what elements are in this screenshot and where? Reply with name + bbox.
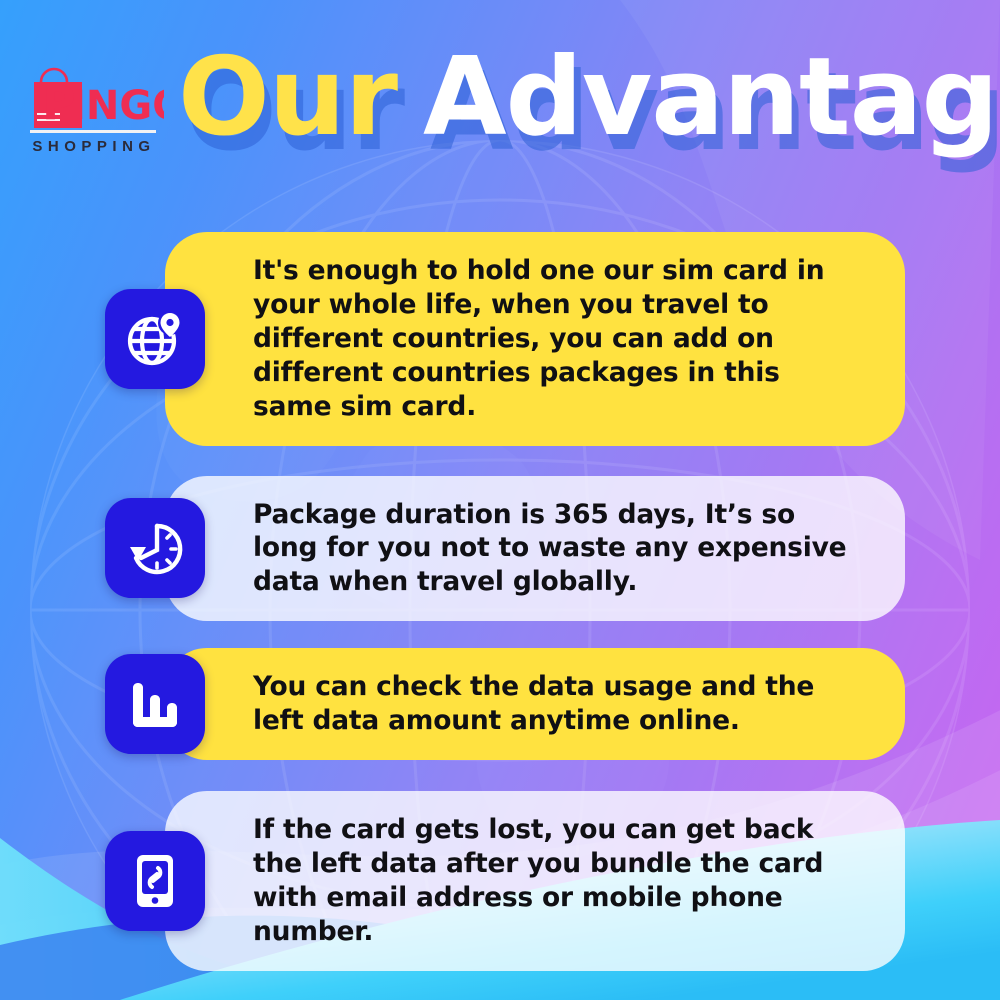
advantages-list: It's enough to hold one our sim card in …	[0, 232, 1000, 971]
clock-history-icon	[105, 498, 205, 598]
shopping-bag-icon: P INGO	[14, 62, 164, 134]
advantage-card-3[interactable]: You can check the data usage and the lef…	[165, 648, 905, 760]
advantage-card-4[interactable]: If the card gets lost, you can get back …	[165, 791, 905, 971]
globe-location-icon	[105, 289, 205, 389]
logo-divider	[30, 130, 156, 133]
logo-tagline: SHOPPING	[30, 138, 158, 155]
brand-logo[interactable]: P INGO SHOPPING	[14, 62, 164, 164]
page-title: OurAdvantages	[178, 44, 1000, 152]
advantage-text-3: You can check the data usage and the lef…	[253, 670, 865, 738]
title-advantages: Advantages	[423, 35, 1000, 160]
advantage-card-2[interactable]: Package duration is 365 days, It’s so lo…	[165, 476, 905, 622]
advantages-poster: P INGO SHOPPING OurAdvantages	[0, 0, 1000, 1000]
advantage-text-4: If the card gets lost, you can get back …	[253, 813, 865, 949]
advantage-text-1: It's enough to hold one our sim card in …	[253, 254, 865, 424]
advantage-text-2: Package duration is 365 days, It’s so lo…	[253, 498, 865, 600]
svg-text:INGO: INGO	[71, 83, 164, 129]
bar-chart-icon	[105, 654, 205, 754]
advantage-card-1[interactable]: It's enough to hold one our sim card in …	[165, 232, 905, 446]
phone-link-icon	[105, 831, 205, 931]
title-our: Our	[178, 35, 397, 160]
